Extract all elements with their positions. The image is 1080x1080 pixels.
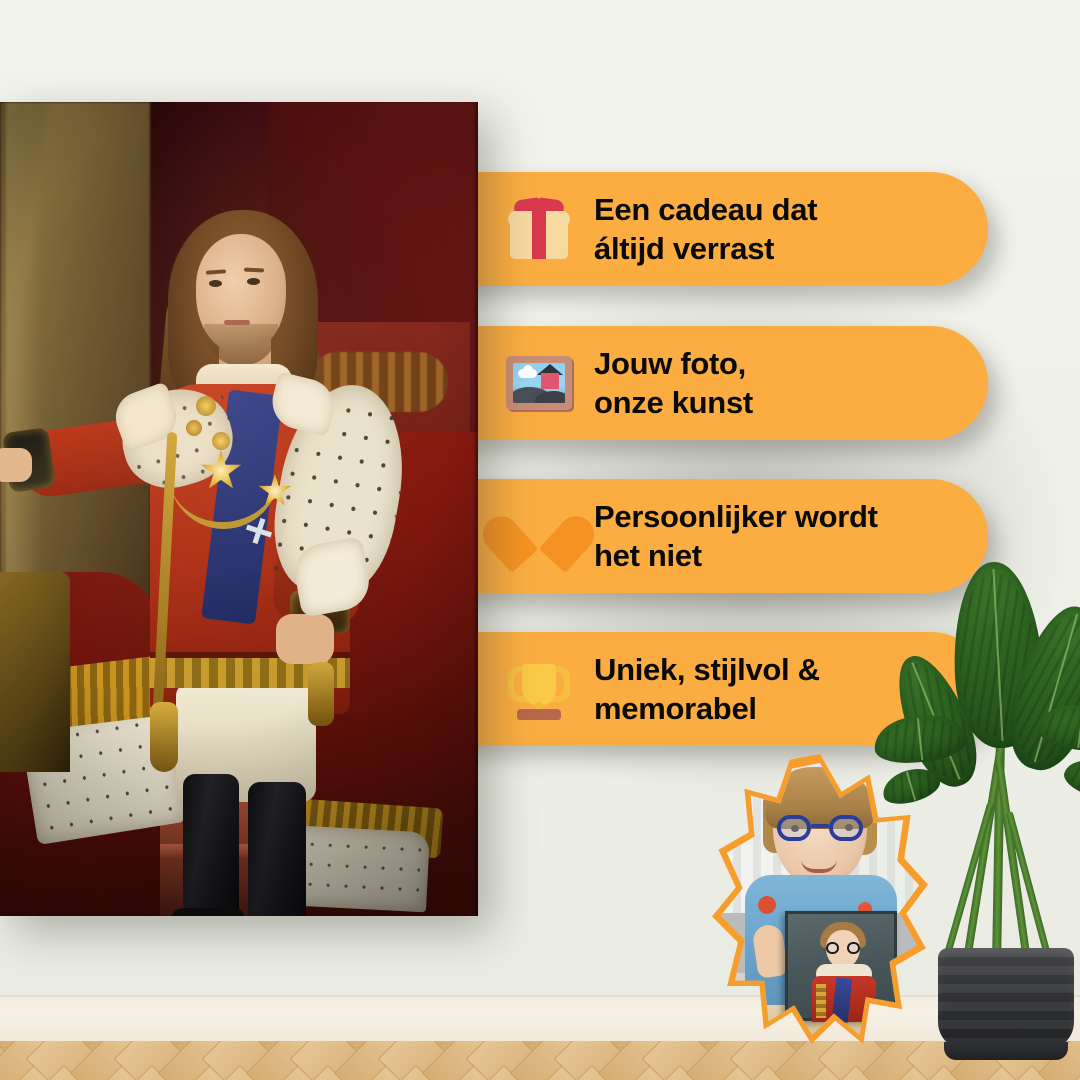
- feature-pill-gift[interactable]: Een cadeau dat áltijd verrast: [396, 172, 988, 286]
- painting-tassel: [150, 702, 178, 772]
- royal-portrait-canvas[interactable]: [0, 102, 478, 916]
- customer-star-photo[interactable]: [712, 754, 928, 1044]
- plant-saucer: [944, 1042, 1068, 1060]
- heart-icon: [500, 497, 578, 575]
- painting-medal: [196, 396, 216, 416]
- painting-mouth: [224, 320, 250, 325]
- painting-tassel: [308, 662, 334, 726]
- painting-medal: [212, 432, 230, 450]
- painting-boot: [170, 908, 244, 916]
- painting-boot: [183, 774, 239, 916]
- painting-hand: [276, 614, 334, 664]
- feature-label: Een cadeau dat áltijd verrast: [594, 190, 817, 268]
- feature-pill-photo[interactable]: Jouw foto, onze kunst: [396, 326, 988, 440]
- gift-icon: [500, 190, 578, 268]
- painting-medal: [186, 420, 202, 436]
- child-glasses: [777, 815, 863, 841]
- feature-label: Persoonlijker wordt het niet: [594, 497, 878, 575]
- painting-eye: [247, 278, 260, 285]
- portrait-artwork: [0, 102, 478, 916]
- plant-pot: [938, 948, 1074, 1050]
- feature-label: Jouw foto, onze kunst: [594, 344, 753, 422]
- room-scene: Een cadeau dat áltijd verrast Jouw foto,…: [0, 0, 1080, 1080]
- canvas-edge: [473, 102, 478, 916]
- painting-pillar: [0, 102, 150, 642]
- painting-eye: [209, 280, 222, 287]
- feature-label: Uniek, stijlvol & memorabel: [594, 650, 820, 728]
- painting-plinth: [0, 572, 70, 772]
- painting-hand: [0, 448, 32, 482]
- trophy-icon: [500, 650, 578, 728]
- plant-leaf: [1060, 754, 1080, 805]
- photo-frame-icon: [500, 344, 578, 422]
- painting-boot: [248, 782, 306, 916]
